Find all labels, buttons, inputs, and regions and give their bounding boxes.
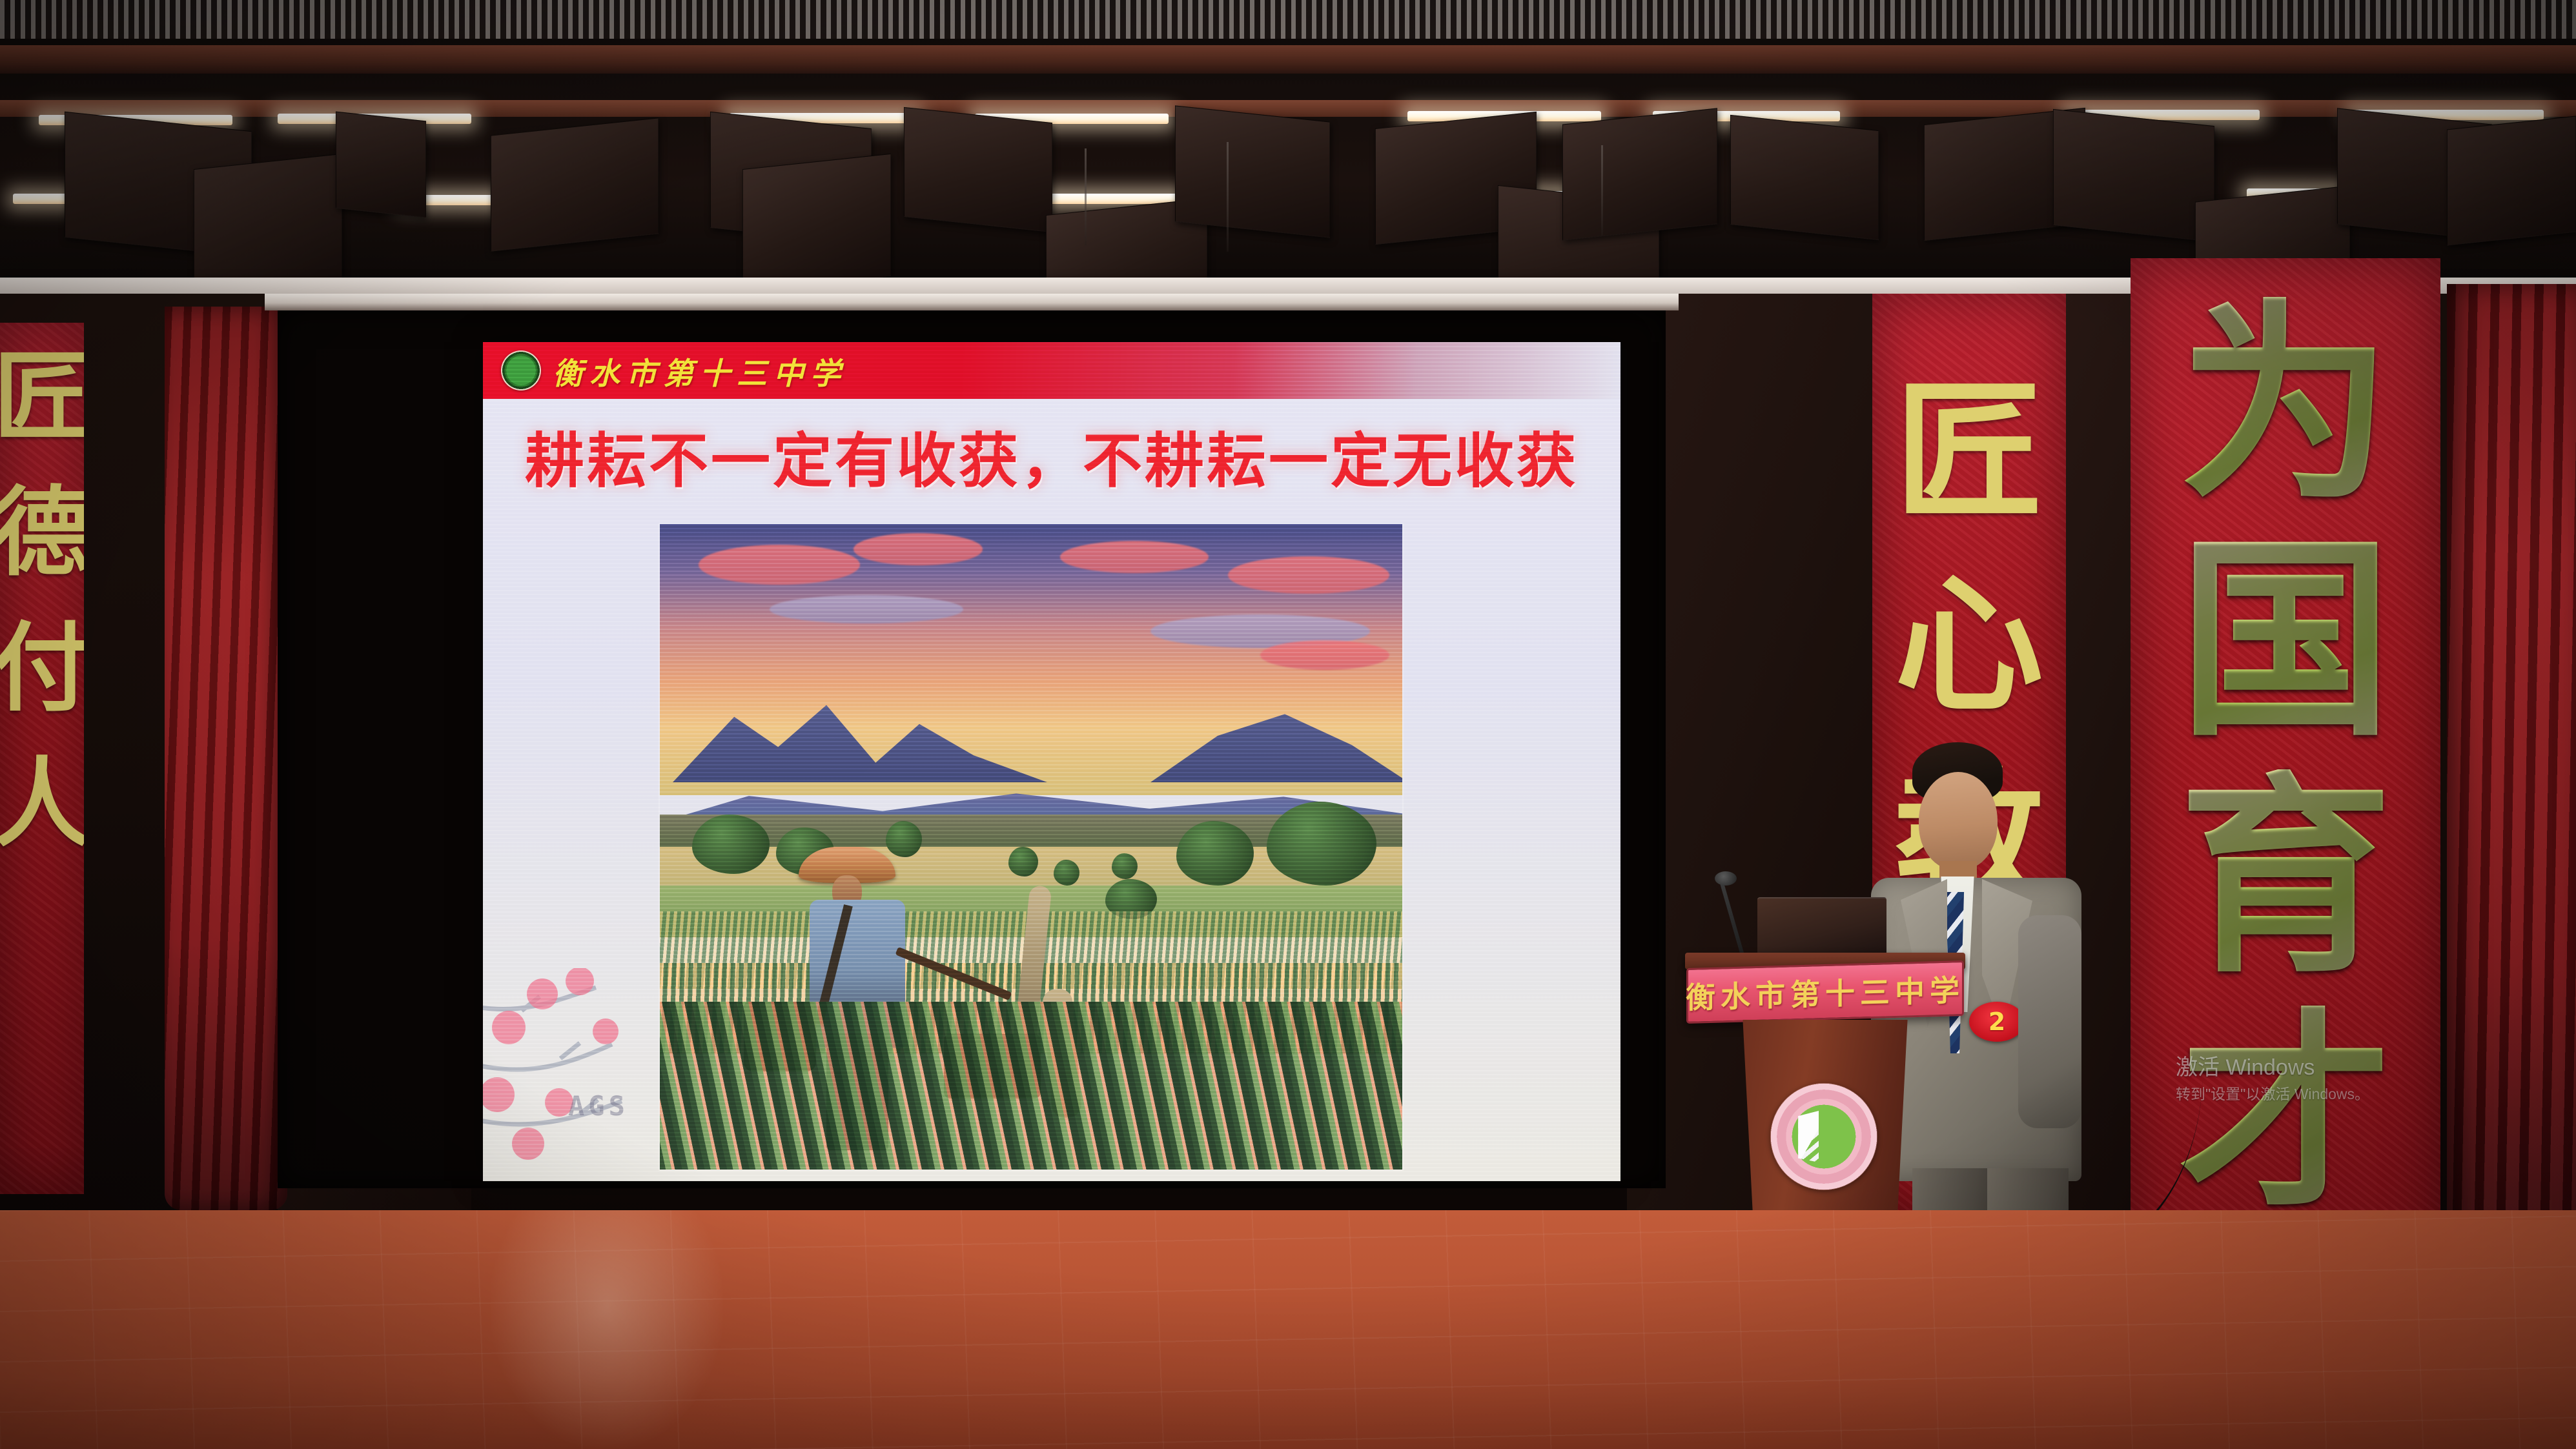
rig-cable — [1227, 142, 1229, 252]
podium-microphone-head — [1715, 871, 1737, 886]
ags-watermark-logo: AGS — [568, 1090, 629, 1122]
podium-laptop-screen — [1757, 897, 1886, 953]
podium-school-emblem — [1770, 1083, 1877, 1190]
painting-tree — [1112, 853, 1138, 879]
slide-title-text: 耕耘不一定有收获，不耕耘一定无收获 — [483, 413, 1620, 499]
speaker-head — [1919, 772, 1998, 870]
painting-cloud — [1260, 640, 1389, 670]
stage-light-fixture — [2447, 116, 2576, 245]
school-crest-icon — [501, 350, 541, 390]
banner-left-outer: 匠 德 付 人 — [0, 323, 84, 1194]
banner-left-char-1: 德 — [0, 484, 84, 581]
banner-left-char-2: 付 — [0, 620, 84, 716]
stage-light-fixture — [742, 154, 891, 292]
banner-right-inner-char-0: 匠 — [1895, 378, 2043, 526]
rig-cable — [1601, 145, 1603, 236]
podium-nameplate-text: 衡水市第十三中学 — [1686, 967, 1965, 1017]
stage-light-fixture — [1730, 115, 1879, 240]
painting-tree — [886, 821, 922, 857]
painting-tree — [1008, 847, 1038, 876]
painting-tree — [692, 815, 770, 874]
ceiling-beam-upper — [0, 45, 2576, 74]
slide-painting-image — [660, 524, 1402, 1170]
curtain-left — [165, 307, 287, 1210]
painting-cloud — [1228, 556, 1389, 594]
curtain-right — [2447, 284, 2576, 1252]
banner-right-outer-char-1: 国 — [2179, 533, 2392, 746]
stage-light-fixture — [904, 107, 1052, 232]
banner-right-outer-char-2: 育 — [2179, 769, 2392, 982]
stage-light-fixture — [336, 112, 426, 218]
stage-light-fixture — [1175, 105, 1330, 238]
podium-nameplate: 衡水市第十三中学 — [1686, 960, 1964, 1024]
stage-scene: 匠 德 付 人 衡水市第十三中学 耕耘不一定有收获，不耕耘一定无收获 — [0, 0, 2576, 1449]
banner-right-outer-char-0: 为 — [2179, 297, 2392, 510]
stage-light-fixture — [194, 154, 342, 298]
led-screen-top-rail — [265, 294, 1679, 310]
painting-cloud — [1060, 541, 1209, 573]
banner-left-char-0: 匠 — [0, 349, 84, 445]
stage-light-fixture — [2053, 109, 2214, 242]
slide-header-band: 衡水市第十三中学 — [483, 342, 1620, 399]
painting-cloud — [770, 595, 963, 623]
painting-cloud — [699, 545, 860, 585]
banner-right-outer-char-3: 才 — [2179, 1006, 2392, 1219]
stage-light-fixture — [1562, 108, 1717, 240]
stage-light-fixture — [491, 117, 659, 251]
painting-cloud — [854, 533, 983, 565]
podium-emblem-flag-icon — [1798, 1111, 1850, 1162]
stage-floor — [0, 1210, 2576, 1449]
painting-tree — [1054, 860, 1079, 886]
slide-school-name: 衡水市第十三中学 — [553, 349, 847, 393]
painting-foreground-crops — [660, 1002, 1402, 1170]
banner-right-inner-char-1: 心 — [1895, 571, 2043, 720]
painting-tree — [1267, 802, 1376, 886]
rig-cable — [1085, 148, 1087, 245]
ceiling-mesh-panel — [0, 0, 2576, 39]
painting-tree — [1176, 821, 1254, 886]
floor-light-reflection — [491, 1210, 723, 1449]
presentation-slide: 衡水市第十三中学 耕耘不一定有收获，不耕耘一定无收获 AGS — [483, 342, 1620, 1181]
banner-left-char-3: 人 — [0, 755, 84, 852]
